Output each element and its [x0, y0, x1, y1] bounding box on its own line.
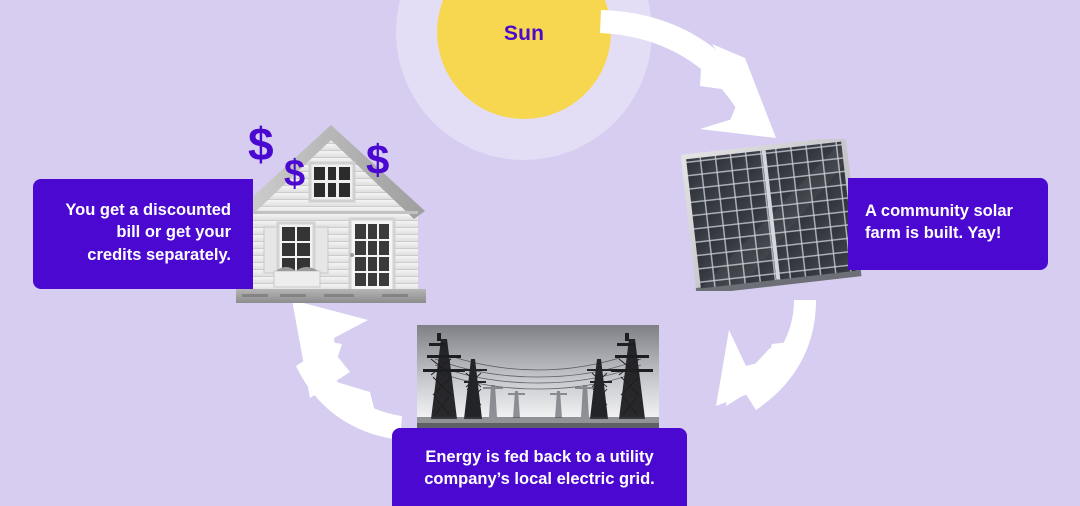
solar-panel-icon — [676, 139, 866, 291]
label-utility-grid: Energy is fed back to a utility company’… — [392, 428, 687, 506]
label-line: A community solar — [865, 200, 1038, 222]
label-line: farm is built. Yay! — [865, 222, 1038, 244]
infographic-canvas: Sun — [0, 0, 1080, 505]
power-lines-illustration — [417, 325, 659, 428]
dollar-icon: $ — [284, 155, 305, 193]
label-discounted-bill: You get a discounted bill or get your cr… — [33, 179, 253, 289]
label-solar-farm: A community solar farm is built. Yay! — [848, 178, 1048, 270]
arrow-grid-to-house — [292, 300, 402, 440]
arrow-panel-to-grid — [716, 300, 816, 410]
label-line: You get a discounted — [45, 199, 231, 221]
power-lines-icon — [417, 325, 659, 428]
label-line: credits separately. — [45, 244, 231, 266]
label-line: bill or get your — [45, 221, 231, 243]
solar-panel-illustration — [676, 139, 866, 291]
house-illustration: $ $ $ — [232, 123, 430, 303]
arrow-sun-to-panel — [600, 10, 776, 138]
dollar-icon: $ — [248, 121, 274, 167]
label-line: Energy is fed back to a utility — [406, 446, 673, 468]
label-line: company’s local electric grid. — [406, 468, 673, 490]
dollar-icon: $ — [366, 139, 389, 181]
